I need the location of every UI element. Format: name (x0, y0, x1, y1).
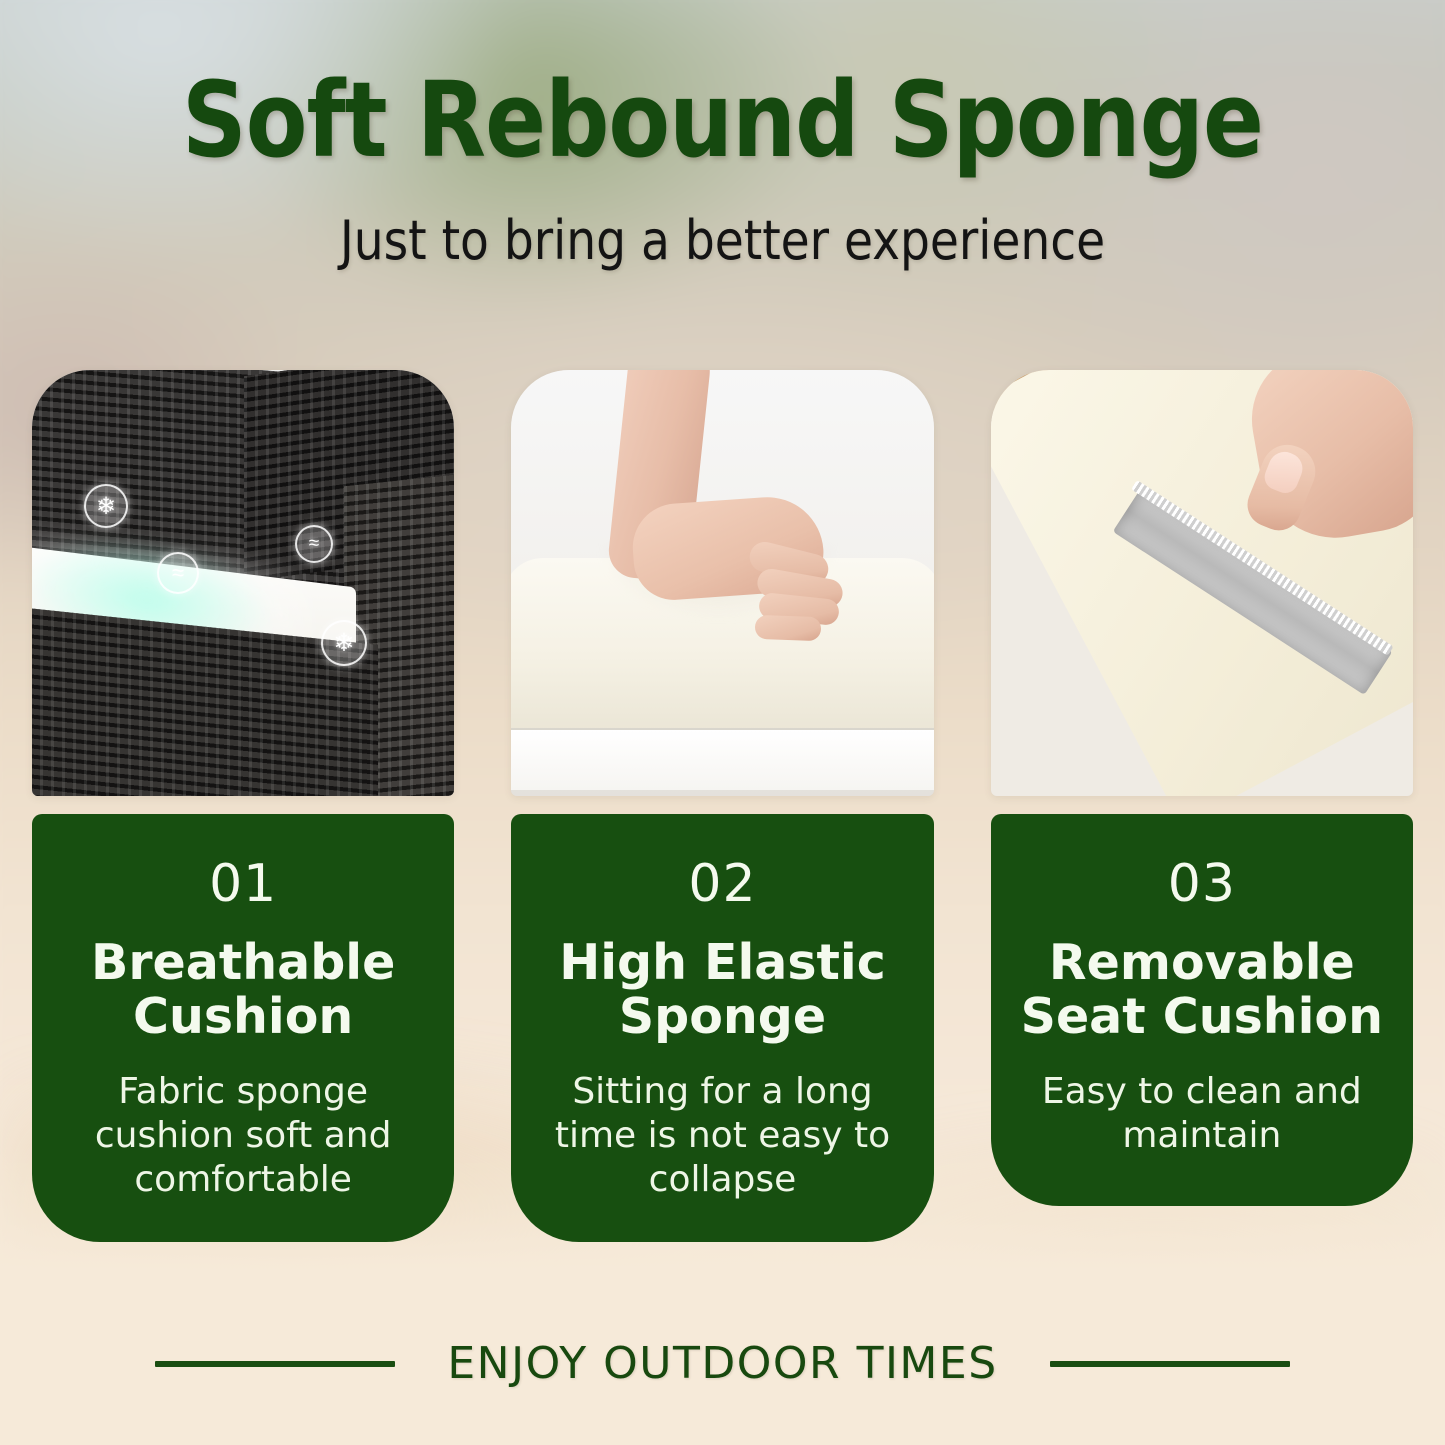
feature-grid: ❄ ≈ ≈ ❄ 01 Breathable Cushion Fabric spo… (32, 370, 1413, 1242)
feature-number: 02 (529, 858, 915, 910)
feature-photo-breathable-cushion: ❄ ≈ ≈ ❄ (32, 370, 454, 796)
feature-description: Sitting for a long time is not easy to c… (529, 1070, 915, 1202)
feature-description: Fabric sponge cushion soft and comfortab… (50, 1070, 436, 1202)
snowflake-icon: ❄ (321, 620, 367, 666)
feature-card-03: 03 Removable Seat Cushion Easy to clean … (991, 814, 1413, 1206)
feature-title: Breathable Cushion (50, 936, 436, 1044)
hand-finger-little (755, 615, 822, 641)
page-subtitle: Just to bring a better experience (22, 214, 1424, 268)
feature-card-02: 02 High Elastic Sponge Sitting for a lon… (511, 814, 933, 1242)
header: Soft Rebound Sponge Just to bring a bett… (0, 0, 1445, 268)
feature-description: Easy to clean and maintain (1009, 1070, 1395, 1158)
feature-title: Removable Seat Cushion (1009, 936, 1395, 1044)
footer-rule-right (1050, 1361, 1290, 1367)
snowflake-icon: ❄ (84, 484, 128, 528)
table-surface (511, 728, 933, 790)
feature-column-01: ❄ ≈ ≈ ❄ 01 Breathable Cushion Fabric spo… (32, 370, 454, 1242)
feature-column-03: 03 Removable Seat Cushion Easy to clean … (991, 370, 1413, 1242)
wave-icon: ≈ (157, 552, 199, 594)
feature-number: 01 (50, 858, 436, 910)
wave-icon: ≈ (295, 525, 333, 563)
feature-photo-high-elastic-sponge (511, 370, 933, 796)
footer-rule-left (155, 1361, 395, 1367)
footer: ENJOY OUTDOOR TIMES (0, 1338, 1445, 1389)
feature-card-01: 01 Breathable Cushion Fabric sponge cush… (32, 814, 454, 1242)
feature-photo-removable-seat-cushion (991, 370, 1413, 796)
feature-title: High Elastic Sponge (529, 936, 915, 1044)
page-title: Soft Rebound Sponge (29, 68, 1416, 172)
footer-tagline: ENJOY OUTDOOR TIMES (447, 1338, 997, 1389)
feature-number: 03 (1009, 858, 1395, 910)
feature-column-02: 02 High Elastic Sponge Sitting for a lon… (511, 370, 933, 1242)
